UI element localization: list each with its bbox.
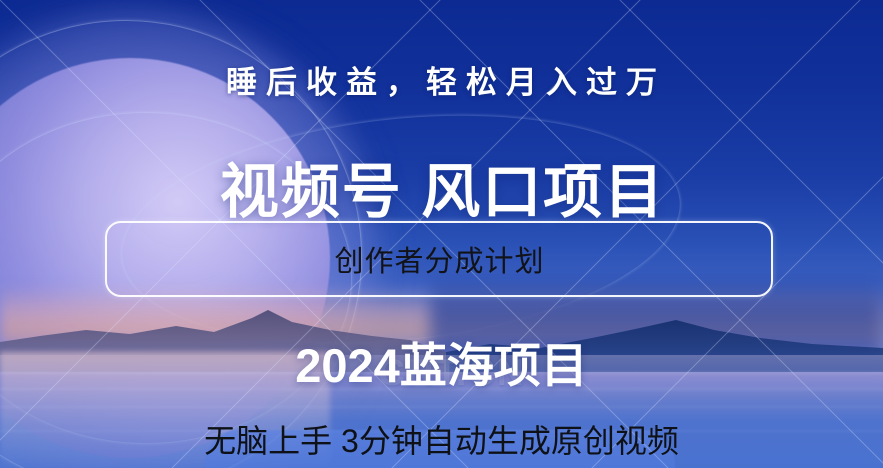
headline-secondary: 2024蓝海项目: [0, 327, 883, 396]
footer-tagline: 无脑上手 3分钟自动生成原创视频: [0, 416, 883, 462]
headline-top: 睡后收益，轻松月入过万: [0, 57, 883, 102]
promo-poster: CRT.CN 睡后收益，轻松月入过万 视频号 风口项目 创作者分成计划 2024…: [0, 0, 883, 468]
poster-content: 睡后收益，轻松月入过万 视频号 风口项目 创作者分成计划 2024蓝海项目 无脑…: [0, 0, 883, 468]
subtitle-box-label: 创作者分成计划: [333, 238, 544, 280]
page-title: 视频号 风口项目: [0, 144, 883, 229]
subtitle-box: 创作者分成计划: [105, 221, 773, 297]
